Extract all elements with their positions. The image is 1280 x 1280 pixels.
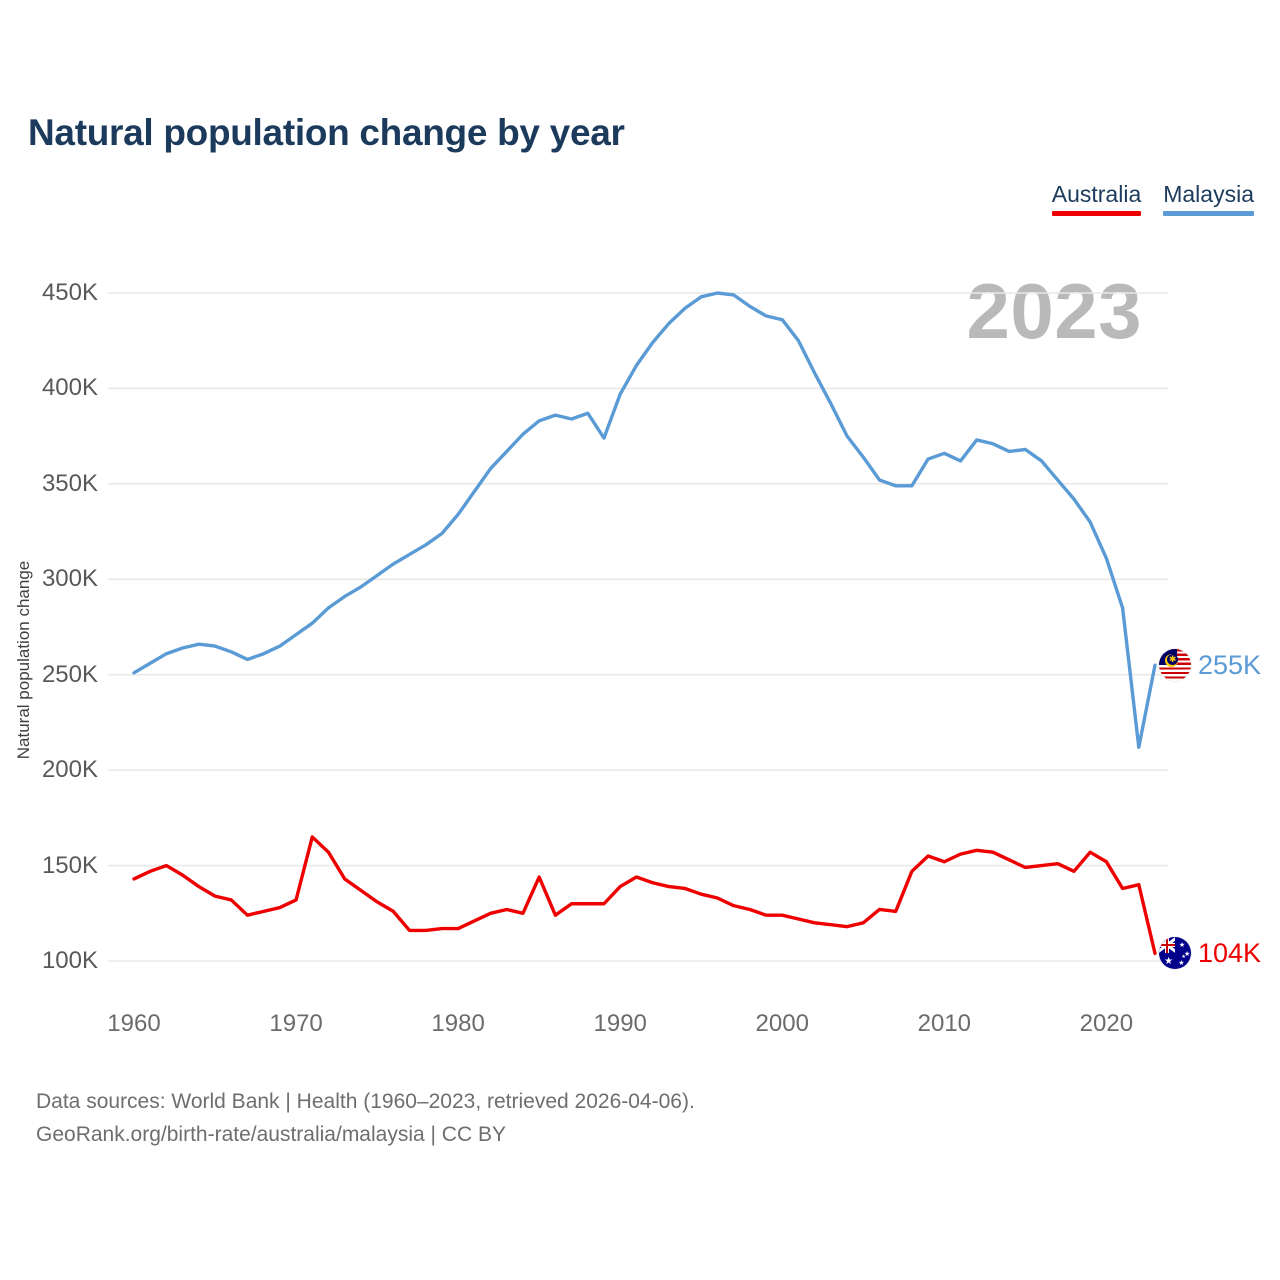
endpoint-value-australia: 104K bbox=[1198, 938, 1261, 969]
y-tick-label: 250K bbox=[0, 661, 98, 689]
footer-attribution: GeoRank.org/birth-rate/australia/malaysi… bbox=[36, 1119, 695, 1152]
series-lines bbox=[134, 293, 1155, 953]
y-tick-label: 400K bbox=[0, 374, 98, 402]
y-tick-label: 100K bbox=[0, 947, 98, 975]
australia-flag-icon: ★ ★ ★ ★ ★ bbox=[1159, 937, 1191, 969]
endpoint-malaysia: ✱ 255K bbox=[1159, 649, 1261, 681]
x-tick-label: 2000 bbox=[756, 1010, 809, 1038]
x-tick-label: 2010 bbox=[918, 1010, 971, 1038]
x-tick-label: 1960 bbox=[107, 1010, 160, 1038]
y-tick-label: 150K bbox=[0, 852, 98, 880]
series-line-malaysia bbox=[134, 293, 1155, 747]
footer-data-sources: Data sources: World Bank | Health (1960–… bbox=[36, 1086, 695, 1119]
footer: Data sources: World Bank | Health (1960–… bbox=[36, 1086, 695, 1151]
y-tick-label: 300K bbox=[0, 565, 98, 593]
y-tick-label: 450K bbox=[0, 279, 98, 307]
y-tick-label: 200K bbox=[0, 756, 98, 784]
series-line-australia bbox=[134, 837, 1155, 953]
endpoint-value-malaysia: 255K bbox=[1198, 650, 1261, 681]
x-tick-label: 2020 bbox=[1080, 1010, 1133, 1038]
x-tick-label: 1980 bbox=[431, 1010, 484, 1038]
chart-page: Natural population change by year Austra… bbox=[0, 0, 1280, 1280]
malaysia-flag-icon: ✱ bbox=[1159, 649, 1191, 681]
x-tick-label: 1990 bbox=[593, 1010, 646, 1038]
x-tick-label: 1970 bbox=[269, 1010, 322, 1038]
endpoint-australia: ★ ★ ★ ★ ★ 104K bbox=[1159, 937, 1261, 969]
y-tick-label: 350K bbox=[0, 470, 98, 498]
